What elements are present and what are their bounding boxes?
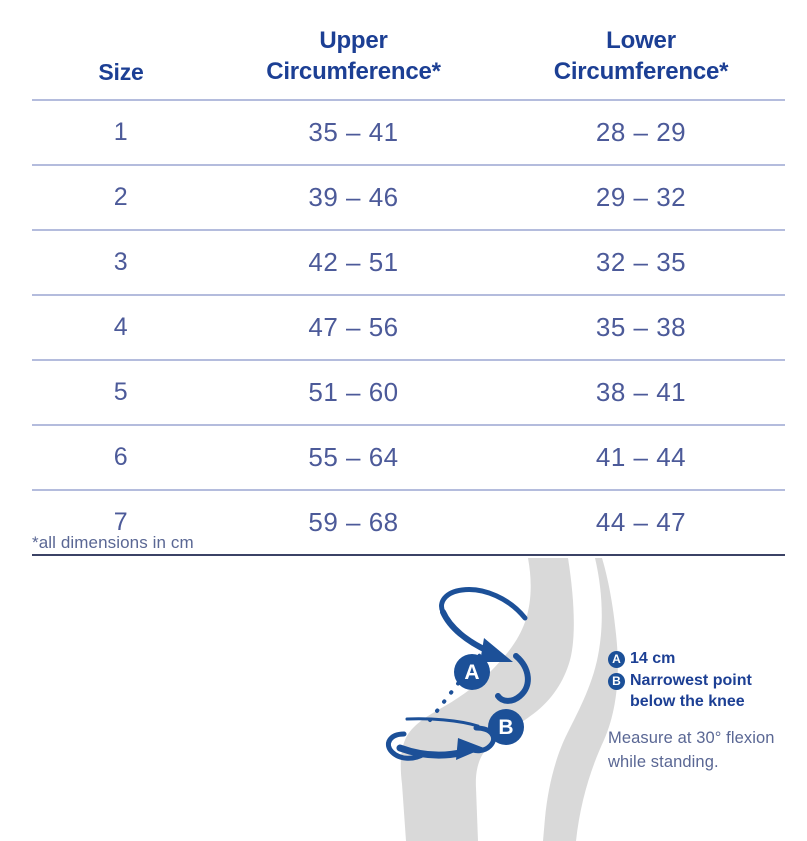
legend-item-a: A 14 cm [608,648,798,669]
cell-upper-circumference: 47 – 56 [210,295,497,360]
legend-badge-b-icon: B [608,673,625,690]
cell-upper-circumference: 59 – 68 [210,490,497,555]
cell-upper-circumference: 42 – 51 [210,230,497,295]
cell-size: 6 [32,425,210,490]
legend-item-b: B Narrowest point below the knee [608,670,798,712]
cell-upper-circumference: 39 – 46 [210,165,497,230]
marker-b-badge: B [488,709,524,745]
column-header-upper-line1: Upper [319,27,387,54]
column-header-upper-line2: Circumference* [266,58,441,85]
cell-lower-circumference: 28 – 29 [497,100,785,165]
table-row: 5 51 – 60 38 – 41 [32,360,785,425]
upper-circumference-arrowhead [480,638,513,662]
cell-lower-circumference: 38 – 41 [497,360,785,425]
column-header-size: Size [32,0,210,100]
upper-circumference-loop-front [443,612,488,651]
marker-a-badge: A [454,654,490,690]
table-header: Size Upper Circumference* Lower Circumfe… [32,0,785,100]
cell-lower-circumference: 29 – 32 [497,165,785,230]
table-header-row: Size Upper Circumference* Lower Circumfe… [32,0,785,100]
legend-label-b: Narrowest point below the knee [630,670,798,712]
cell-upper-circumference: 55 – 64 [210,425,497,490]
table-row: 6 55 – 64 41 – 44 [32,425,785,490]
marker-a-label: A [464,661,479,684]
cell-size: 3 [32,230,210,295]
cell-size: 4 [32,295,210,360]
table-row: 1 35 – 41 28 – 29 [32,100,785,165]
cell-upper-circumference: 51 – 60 [210,360,497,425]
column-header-upper-circumference: Upper Circumference* [210,0,497,100]
diagram-legend: A 14 cm B Narrowest point below the knee… [608,648,798,774]
marker-b-label: B [498,716,513,739]
legend-badge-a-icon: A [608,651,625,668]
table-row: 3 42 – 51 32 – 35 [32,230,785,295]
cell-lower-circumference: 32 – 35 [497,230,785,295]
table-row: 4 47 – 56 35 – 38 [32,295,785,360]
cell-size: 5 [32,360,210,425]
size-chart-table: Size Upper Circumference* Lower Circumfe… [32,0,785,556]
upper-circumference-loop-back [442,590,525,618]
measurement-instruction: Measure at 30° flexion while standing. [608,727,798,774]
cell-lower-circumference: 35 – 38 [497,295,785,360]
cell-lower-circumference: 44 – 47 [497,490,785,555]
column-header-lower-circumference: Lower Circumference* [497,0,785,100]
column-header-lower-line2: Circumference* [554,58,729,85]
table-row: 2 39 – 46 29 – 32 [32,165,785,230]
cell-size: 1 [32,100,210,165]
table-footnote: *all dimensions in cm [32,533,194,553]
legend-label-a: 14 cm [630,648,675,669]
column-header-lower-line1: Lower [606,27,676,54]
cell-size: 2 [32,165,210,230]
cell-upper-circumference: 35 – 41 [210,100,497,165]
leg-illustration-svg: A B [380,558,620,841]
cell-lower-circumference: 41 – 44 [497,425,785,490]
table-body: 1 35 – 41 28 – 29 2 39 – 46 29 – 32 3 42… [32,100,785,555]
